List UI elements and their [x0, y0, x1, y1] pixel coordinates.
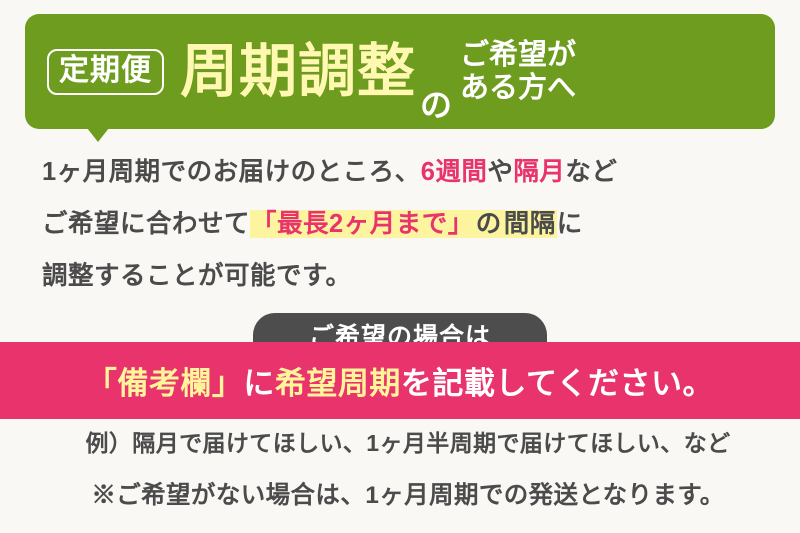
instruction-part2: に: [243, 366, 275, 401]
description-highlight-interval: 間隔: [503, 210, 557, 238]
banner-main-title: 周期調整: [180, 43, 416, 101]
description-line-2: ご希望に合わせて「最長2ヶ月まで」の間隔に: [42, 198, 772, 250]
subscription-tag: 定期便: [47, 49, 164, 95]
description-line-1: 1ヶ月周期でのお届けのところ、6週間や隔月など: [42, 146, 772, 198]
instruction-band: 「備考欄」に希望周期を記載してください。: [0, 342, 800, 419]
banner-subtitle-line1: ご希望が: [460, 39, 576, 71]
description-paragraph: 1ヶ月周期でのお届けのところ、6週間や隔月など ご希望に合わせて「最長2ヶ月まで…: [42, 146, 772, 302]
note-text: ※ご希望がない場合は、1ヶ月周期での発送となります。: [38, 476, 778, 511]
description-line2-part1: ご希望に合わせて: [42, 210, 250, 238]
description-line-3: 調整することが可能です。: [42, 250, 772, 302]
promo-banner-page: 定期便 周期調整 の ご希望が ある方へ 1ヶ月周期でのお届けのところ、6週間や…: [0, 0, 800, 533]
description-line1-part3: や: [487, 158, 513, 186]
description-line3-part1: 調整することが可能です。: [42, 262, 351, 290]
header-banner: 定期便 周期調整 の ご希望が ある方へ: [25, 14, 775, 129]
banner-subtitle-line2: ある方へ: [460, 72, 576, 104]
instruction-part4: を記載してください。: [401, 366, 714, 401]
instruction-band-text: 「備考欄」に希望周期を記載してください。: [86, 358, 714, 403]
example-text: 例）隔月で届けてほしい、1ヶ月半周期で届けてほしい、など: [38, 424, 778, 458]
instruction-desired-cycle: 希望周期: [275, 366, 401, 401]
description-highlight-max-two-months: 「最長2ヶ月まで」: [250, 210, 475, 238]
description-highlight-six-weeks: 6週間: [421, 158, 488, 186]
description-highlight-every-other-month: 隔月: [513, 158, 565, 186]
instruction-remarks-field: 「備考欄」: [86, 366, 244, 401]
banner-subtitle: ご希望が ある方へ: [460, 39, 576, 104]
banner-particle: の: [420, 89, 452, 129]
description-line2-part3: の: [475, 210, 503, 238]
description-line2-part5: に: [557, 210, 583, 238]
description-line1-part1: 1ヶ月周期でのお届けのところ、: [42, 158, 421, 186]
description-line1-part5: など: [565, 158, 617, 186]
